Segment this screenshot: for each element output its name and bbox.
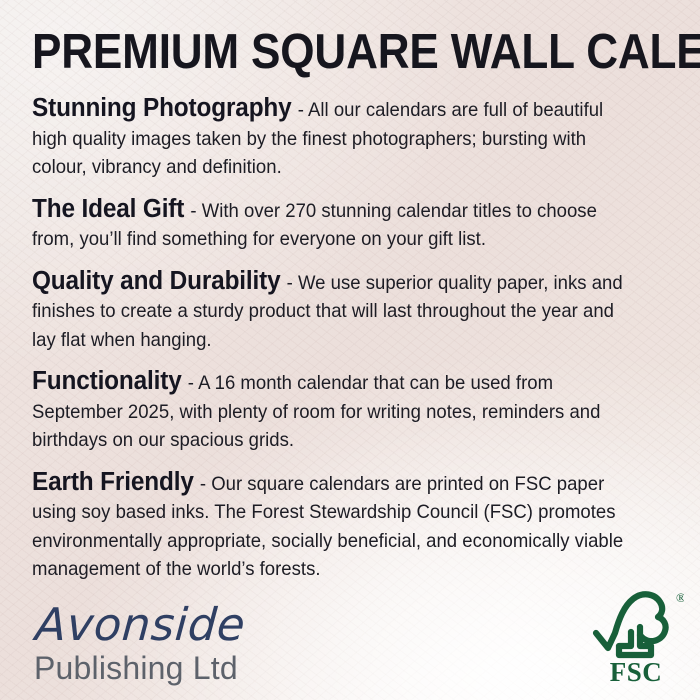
feature-item-quality-and-durability: Quality and Durability - We use superior… — [32, 267, 641, 355]
fsc-certification-logo: ® FSC — [588, 586, 684, 690]
registered-trademark-symbol: ® — [676, 590, 684, 605]
feature-paragraph: Earth Friendly - Our square calendars ar… — [32, 468, 641, 584]
feature-dash: - — [185, 200, 202, 222]
feature-paragraph: Functionality - A 16 month calendar that… — [32, 367, 641, 455]
feature-item-stunning-photography: Stunning Photography - All our calendars… — [32, 94, 641, 182]
feature-item-earth-friendly: Earth Friendly - Our square calendars ar… — [32, 468, 641, 584]
fsc-tree-checkmark-icon: ® — [588, 586, 684, 660]
brand-logo: Avonside Publishing Ltd — [34, 602, 244, 686]
feature-heading: Functionality — [32, 367, 183, 395]
feature-dash: - — [293, 99, 309, 121]
poster-content: PREMIUM SQUARE WALL CALENDARS Stunning P… — [0, 0, 700, 584]
feature-paragraph: The Ideal Gift - With over 270 stunning … — [32, 195, 641, 254]
feature-heading: Quality and Durability — [32, 267, 281, 295]
fsc-label: FSC — [588, 658, 684, 686]
feature-dash: - — [195, 473, 212, 495]
feature-heading: Earth Friendly — [32, 468, 195, 496]
brand-name: Avonside — [34, 602, 247, 648]
feature-item-functionality: Functionality - A 16 month calendar that… — [32, 367, 641, 455]
feature-dash: - — [281, 272, 298, 294]
feature-item-the-ideal-gift: The Ideal Gift - With over 270 stunning … — [32, 195, 641, 254]
feature-heading: Stunning Photography — [32, 94, 293, 122]
product-description-poster: PREMIUM SQUARE WALL CALENDARS Stunning P… — [0, 0, 700, 700]
page-title: PREMIUM SQUARE WALL CALENDARS — [32, 0, 606, 80]
feature-paragraph: Stunning Photography - All our calendars… — [32, 94, 641, 182]
poster-footer: Avonside Publishing Ltd ® FSC — [0, 582, 700, 700]
feature-dash: - — [183, 372, 199, 394]
feature-heading: The Ideal Gift — [32, 195, 185, 223]
brand-subtitle: Publishing Ltd — [34, 650, 244, 686]
feature-paragraph: Quality and Durability - We use superior… — [32, 267, 641, 355]
feature-list: Stunning Photography - All our calendars… — [32, 94, 670, 584]
